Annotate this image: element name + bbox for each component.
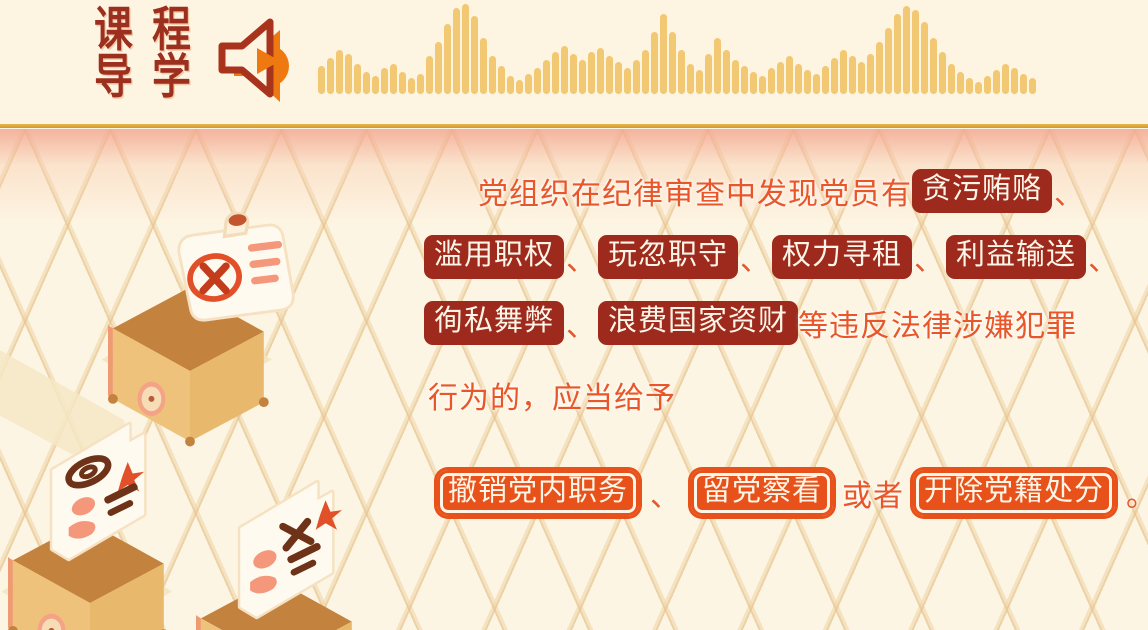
- waveform-bar: [966, 78, 973, 94]
- waveform-bar: [327, 58, 334, 94]
- waveform-bar: [786, 56, 793, 94]
- waveform-bar: [840, 50, 847, 94]
- waveform-bar: [1020, 74, 1027, 94]
- ballot-slip-top: [180, 213, 292, 319]
- punctuation: 、: [564, 235, 598, 279]
- body-text: 或者: [842, 471, 904, 515]
- waveform-bar: [984, 76, 991, 94]
- waveform-bar: [624, 68, 631, 94]
- waveform-bar: [525, 74, 532, 94]
- waveform-bar: [453, 8, 460, 94]
- logo-char-4: 学: [148, 54, 194, 102]
- audio-waveform: [318, 8, 1108, 94]
- waveform-bar: [507, 76, 514, 94]
- waveform-bar: [471, 16, 478, 94]
- waveform-bar: [732, 60, 739, 94]
- waveform-bar: [399, 72, 406, 94]
- waveform-bar: [678, 50, 685, 94]
- waveform-bar: [408, 78, 415, 94]
- waveform-bar: [336, 50, 343, 94]
- content-area: 党组织在纪律审查中发现党员有贪污贿赂、 滥用职权、玩忽职守、权力寻租、利益输送、…: [0, 129, 1148, 630]
- penalty-tag: 撤销党内职务: [437, 470, 639, 516]
- slide-canvas: 课 程 导 学: [0, 0, 1148, 630]
- waveform-bar: [894, 14, 901, 94]
- waveform-bar: [768, 68, 775, 94]
- waveform-bar: [534, 68, 541, 94]
- body-text: 等违反法律涉嫌犯罪: [798, 301, 1077, 345]
- waveform-bar: [813, 74, 820, 94]
- waveform-bar: [669, 32, 676, 94]
- waveform-bar: [993, 70, 1000, 94]
- waveform-bar: [516, 80, 523, 94]
- text-line-2: 滥用职权、玩忽职守、权力寻租、利益输送、: [416, 231, 1116, 283]
- text-line-1: 党组织在纪律审查中发现党员有贪污贿赂、: [416, 165, 1116, 217]
- logo-char-3: 导: [90, 54, 136, 102]
- waveform-bar: [579, 60, 586, 94]
- waveform-bar: [1029, 78, 1036, 94]
- waveform-bar: [822, 66, 829, 94]
- text-line-5: 撤销党内职务、留党察看或者开除党籍处分。: [416, 467, 1116, 519]
- waveform-bar: [606, 56, 613, 94]
- waveform-bar: [849, 56, 856, 94]
- waveform-bar: [885, 28, 892, 94]
- waveform-bar: [903, 6, 910, 94]
- punctuation: 。: [1124, 471, 1148, 515]
- waveform-bar: [795, 64, 802, 94]
- waveform-bar: [1002, 64, 1009, 94]
- waveform-bar: [435, 42, 442, 94]
- logo-char-2: 程: [148, 7, 194, 55]
- waveform-bar: [570, 54, 577, 94]
- waveform-bar: [318, 66, 325, 94]
- ballot-box-middle: [0, 424, 172, 630]
- waveform-bar: [912, 10, 919, 94]
- penalty-tag: 开除党籍处分: [913, 470, 1115, 516]
- waveform-bar: [444, 24, 451, 94]
- waveform-bar: [777, 62, 784, 94]
- waveform-bar: [363, 72, 370, 94]
- course-guide-logo: 课 程 导 学: [86, 8, 198, 100]
- waveform-bar: [372, 76, 379, 94]
- waveform-bar: [687, 64, 694, 94]
- text-line-3: 徇私舞弊、浪费国家资财等违反法律涉嫌犯罪: [416, 297, 1116, 349]
- waveform-bar: [642, 50, 649, 94]
- speaker-megaphone-icon: [212, 12, 300, 104]
- punctuation: 、: [1086, 235, 1120, 279]
- punctuation: 、: [912, 235, 946, 279]
- waveform-bar: [921, 22, 928, 94]
- waveform-bar: [948, 64, 955, 94]
- waveform-bar: [804, 70, 811, 94]
- violation-tag: 浪费国家资财: [598, 301, 798, 345]
- waveform-bar: [1011, 68, 1018, 94]
- penalty-tag: 留党察看: [691, 470, 833, 516]
- punctuation: 、: [564, 301, 598, 345]
- violation-tag: 滥用职权: [424, 235, 564, 279]
- waveform-bar: [831, 58, 838, 94]
- waveform-bar: [867, 54, 874, 94]
- waveform-bar: [390, 64, 397, 94]
- punctuation: 、: [648, 471, 682, 515]
- waveform-bar: [498, 66, 505, 94]
- body-text: 行为的，应当给予: [428, 373, 676, 417]
- body-text: 党组织在纪律审查中发现党员有: [478, 169, 912, 213]
- ballot-box-bottom: [189, 482, 360, 630]
- waveform-bar: [705, 54, 712, 94]
- waveform-bar: [930, 38, 937, 94]
- waveform-bar: [876, 42, 883, 94]
- waveform-bar: [633, 60, 640, 94]
- waveform-bar: [417, 74, 424, 94]
- violation-tag: 玩忽职守: [598, 235, 738, 279]
- waveform-bar: [975, 82, 982, 94]
- logo-char-1: 课: [90, 7, 136, 55]
- waveform-bar: [426, 56, 433, 94]
- header-divider: [0, 124, 1148, 128]
- ballot-slip-bottom: [240, 482, 342, 616]
- waveform-bar: [552, 52, 559, 94]
- waveform-bar: [696, 70, 703, 94]
- waveform-bar: [354, 64, 361, 94]
- violation-tag: 徇私舞弊: [424, 301, 564, 345]
- waveform-bar: [588, 52, 595, 94]
- waveform-bar: [381, 68, 388, 94]
- text-line-4: 行为的，应当给予: [416, 369, 1116, 421]
- waveform-bar: [858, 62, 865, 94]
- waveform-bar: [723, 50, 730, 94]
- discipline-text-block: 党组织在纪律审查中发现党员有贪污贿赂、 滥用职权、玩忽职守、权力寻租、利益输送、…: [416, 165, 1116, 533]
- waveform-bar: [615, 62, 622, 94]
- violation-tag: 贪污贿赂: [912, 169, 1052, 213]
- waveform-bar: [480, 38, 487, 94]
- isometric-ballot-boxes-illustration: [0, 129, 400, 630]
- waveform-bar: [957, 72, 964, 94]
- waveform-bar: [741, 66, 748, 94]
- waveform-bar: [489, 56, 496, 94]
- waveform-bar: [651, 32, 658, 94]
- waveform-bar: [939, 52, 946, 94]
- punctuation: 、: [738, 235, 772, 279]
- waveform-bar: [759, 76, 766, 94]
- waveform-bar: [597, 48, 604, 94]
- waveform-bar: [543, 60, 550, 94]
- violation-tag: 利益输送: [946, 235, 1086, 279]
- header-bar: 课 程 导 学: [0, 0, 1148, 128]
- waveform-bar: [345, 54, 352, 94]
- waveform-bar: [750, 72, 757, 94]
- waveform-bar: [462, 4, 469, 94]
- punctuation: 、: [1052, 169, 1086, 213]
- violation-tag: 权力寻租: [772, 235, 912, 279]
- waveform-bar: [660, 14, 667, 94]
- waveform-bar: [714, 38, 721, 94]
- waveform-bar: [561, 46, 568, 94]
